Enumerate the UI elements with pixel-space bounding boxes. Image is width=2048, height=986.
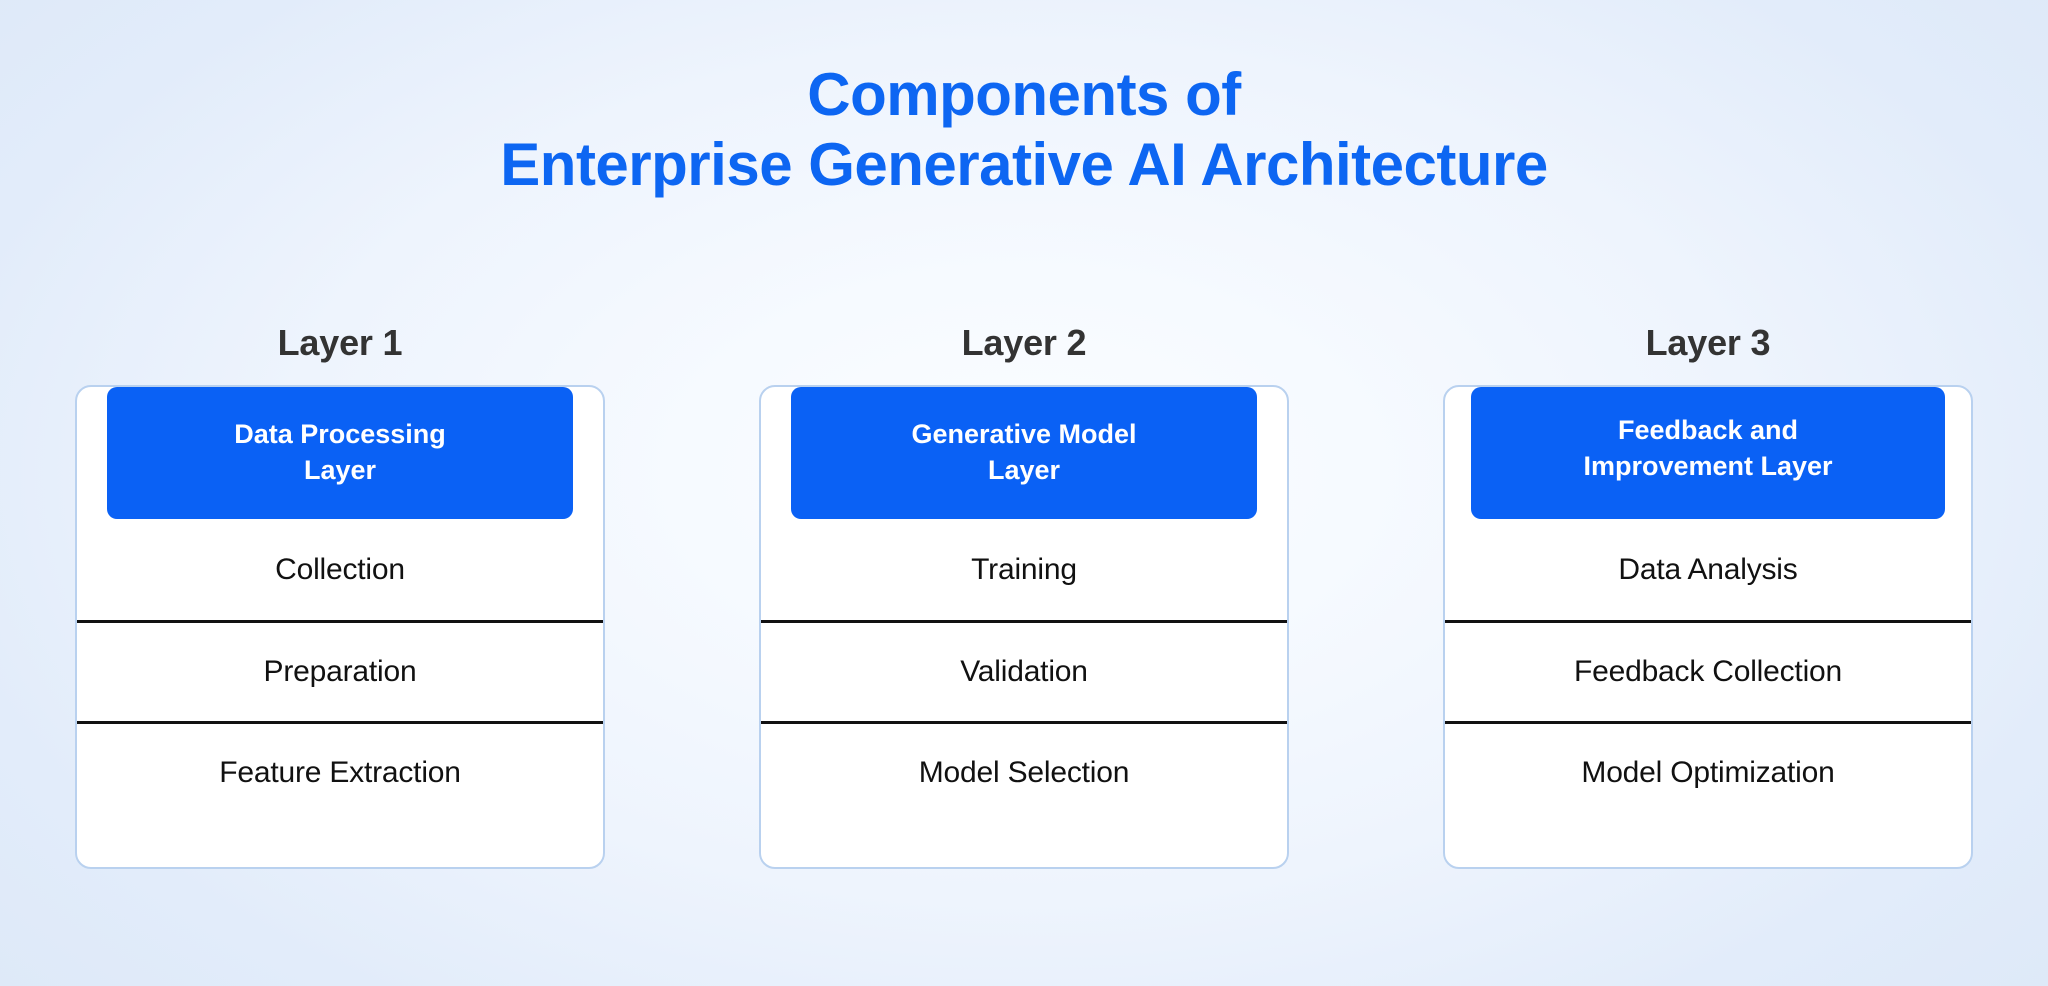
list-item[interactable]: Data Analysis <box>1445 519 1971 620</box>
layer-column-1: Layer 1 Data Processing Layer Collection… <box>75 322 605 869</box>
list-item[interactable]: Model Selection <box>761 721 1287 867</box>
layer-card-rows-2: Training Validation Model Selection <box>761 519 1287 867</box>
layer-card-header-2-line-2: Layer <box>988 455 1060 485</box>
layer-card-2[interactable]: Generative Model Layer Training Validati… <box>759 385 1289 869</box>
layer-columns: Layer 1 Data Processing Layer Collection… <box>0 322 2048 869</box>
list-item[interactable]: Feature Extraction <box>77 721 603 867</box>
layer-card-rows-3: Data Analysis Feedback Collection Model … <box>1445 519 1971 867</box>
page-title-line-2: Enterprise Generative AI Architecture <box>0 130 2048 200</box>
layer-label-3: Layer 3 <box>1646 322 1771 364</box>
layer-card-header-1-line-1: Data Processing <box>234 419 446 449</box>
layer-card-header-1: Data Processing Layer <box>107 387 573 519</box>
layer-card-3[interactable]: Feedback and Improvement Layer Data Anal… <box>1443 385 1973 869</box>
layer-card-header-2: Generative Model Layer <box>791 387 1257 519</box>
layer-card-header-3-line-2: Improvement Layer <box>1583 451 1832 481</box>
page-title: Components of Enterprise Generative AI A… <box>0 0 2048 200</box>
layer-card-header-1-line-2: Layer <box>304 455 376 485</box>
layer-column-3: Layer 3 Feedback and Improvement Layer D… <box>1443 322 1973 869</box>
layer-card-rows-1: Collection Preparation Feature Extractio… <box>77 519 603 867</box>
list-item[interactable]: Model Optimization <box>1445 721 1971 867</box>
layer-label-2: Layer 2 <box>962 322 1087 364</box>
layer-card-header-2-line-1: Generative Model <box>911 419 1136 449</box>
list-item[interactable]: Training <box>761 519 1287 620</box>
list-item[interactable]: Feedback Collection <box>1445 620 1971 721</box>
list-item[interactable]: Preparation <box>77 620 603 721</box>
layer-card-header-3-line-1: Feedback and <box>1618 415 1798 445</box>
layer-column-2: Layer 2 Generative Model Layer Training … <box>759 322 1289 869</box>
layer-label-1: Layer 1 <box>278 322 403 364</box>
layer-card-1[interactable]: Data Processing Layer Collection Prepara… <box>75 385 605 869</box>
list-item[interactable]: Collection <box>77 519 603 620</box>
layer-card-header-3: Feedback and Improvement Layer <box>1471 387 1945 519</box>
list-item[interactable]: Validation <box>761 620 1287 721</box>
page-title-line-1: Components of <box>0 60 2048 130</box>
